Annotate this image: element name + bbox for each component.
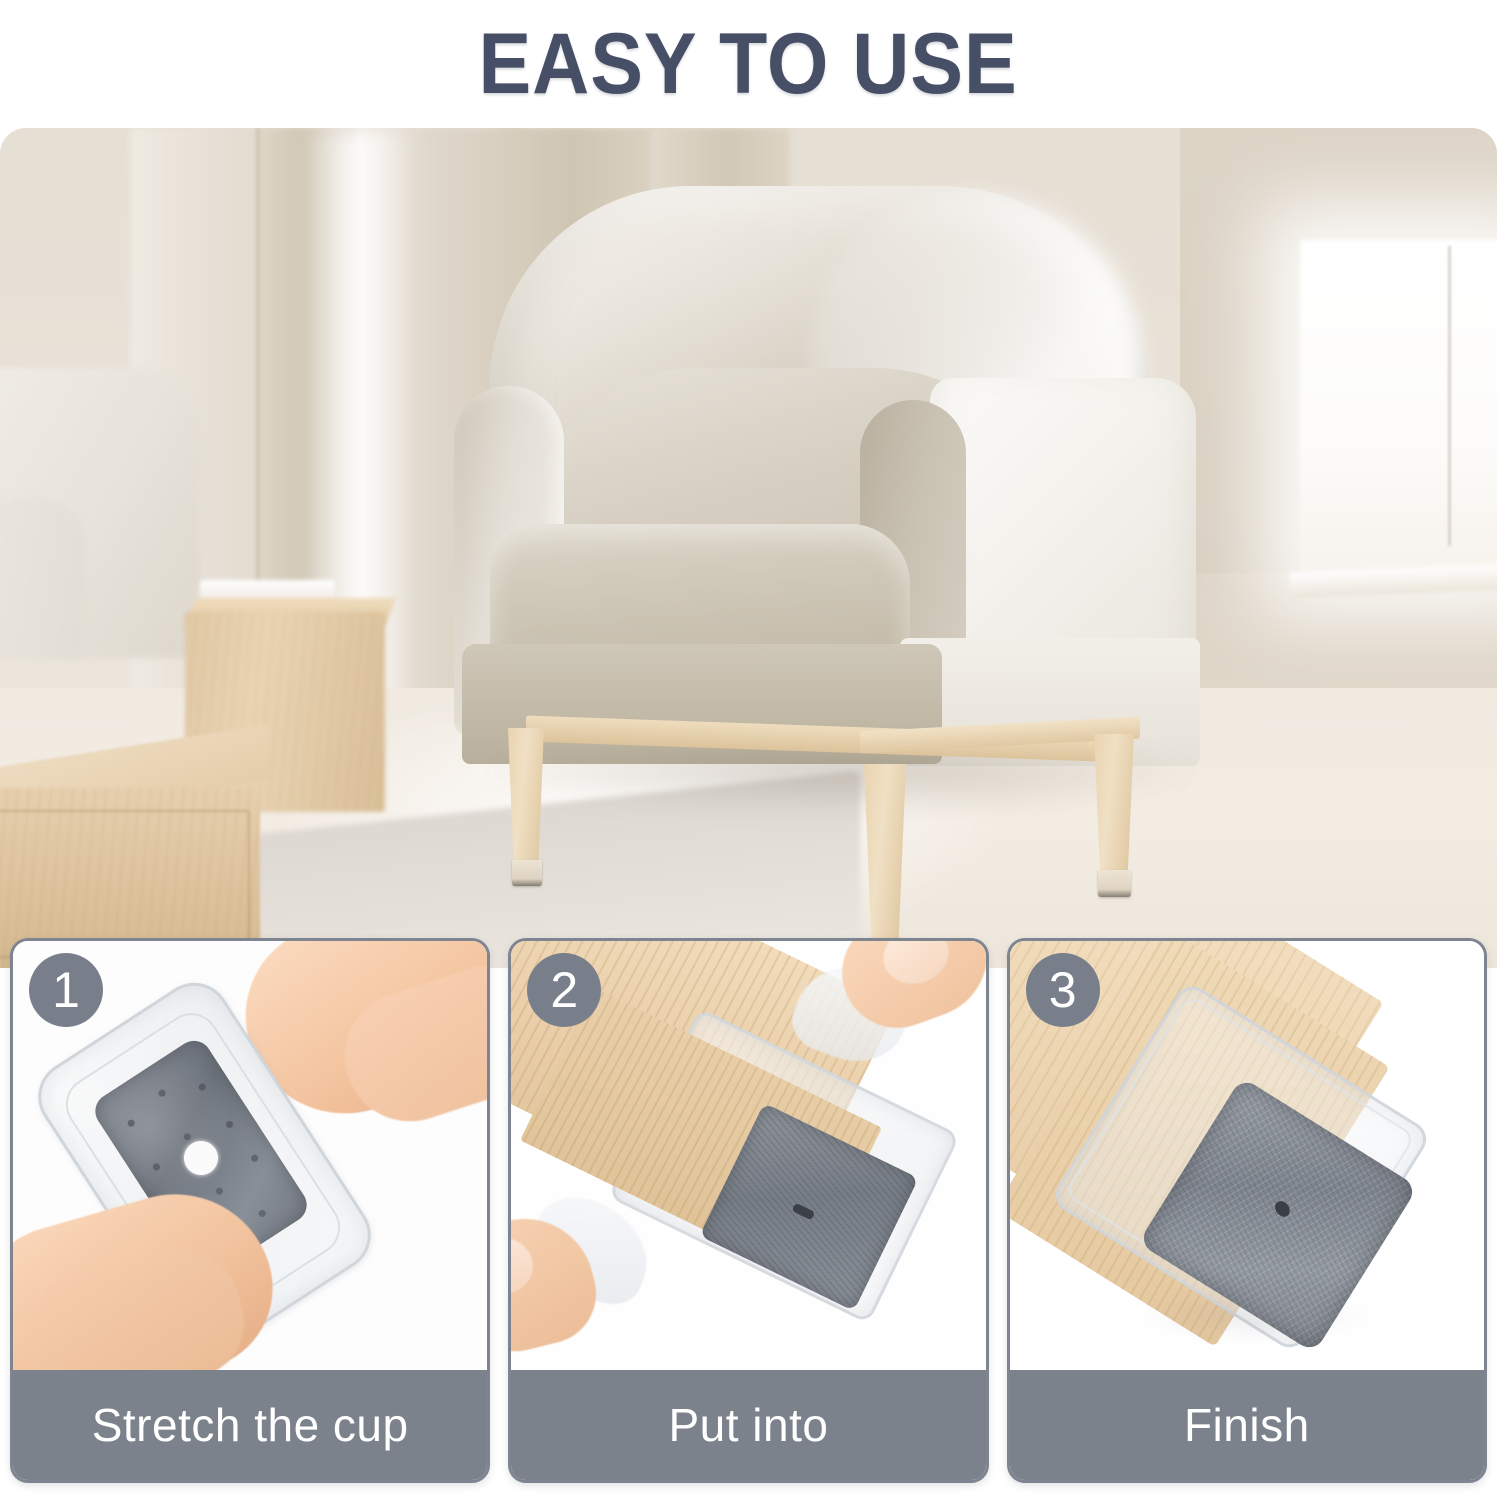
- armchair-leg: [508, 728, 544, 868]
- step-caption-3: Finish: [1010, 1370, 1484, 1480]
- step-1-photo: 1: [13, 941, 487, 1370]
- step-panel-3[interactable]: 3 Finish: [1007, 938, 1487, 1483]
- window: [1300, 240, 1497, 580]
- hero-image: [0, 128, 1497, 968]
- armchair-leg: [864, 764, 906, 944]
- leg-protector-cap: [1098, 870, 1131, 897]
- step-3-photo: 3: [1010, 941, 1484, 1370]
- leg-shadow: [1130, 1291, 1380, 1341]
- felt-center-hole: [792, 1202, 816, 1220]
- infographic-root: EASY TO USE: [0, 0, 1497, 1497]
- armchair: [430, 168, 1230, 968]
- step-caption-2: Put into: [511, 1370, 985, 1480]
- step-panel-1[interactable]: 1 Stretch the cup: [10, 938, 490, 1483]
- window-frame: [1448, 246, 1451, 546]
- leg-protector-cap: [512, 860, 542, 886]
- coffee-table-drawer: [0, 810, 250, 958]
- step-badge-1: 1: [29, 953, 103, 1027]
- felt-center-hole: [1272, 1198, 1293, 1219]
- header: EASY TO USE: [0, 0, 1497, 128]
- step-2-photo: 2: [511, 941, 985, 1370]
- wall-edge: [256, 128, 260, 648]
- page-title: EASY TO USE: [479, 21, 1018, 107]
- step-panel-2[interactable]: 2 Put into: [508, 938, 988, 1483]
- armchair-leg: [1094, 734, 1134, 878]
- step-badge-3: 3: [1026, 953, 1100, 1027]
- background-sofa-arm: [0, 498, 85, 658]
- step-caption-1: Stretch the cup: [13, 1370, 487, 1480]
- steps-row: 1 Stretch the cup: [10, 938, 1487, 1483]
- step-badge-2: 2: [527, 953, 601, 1027]
